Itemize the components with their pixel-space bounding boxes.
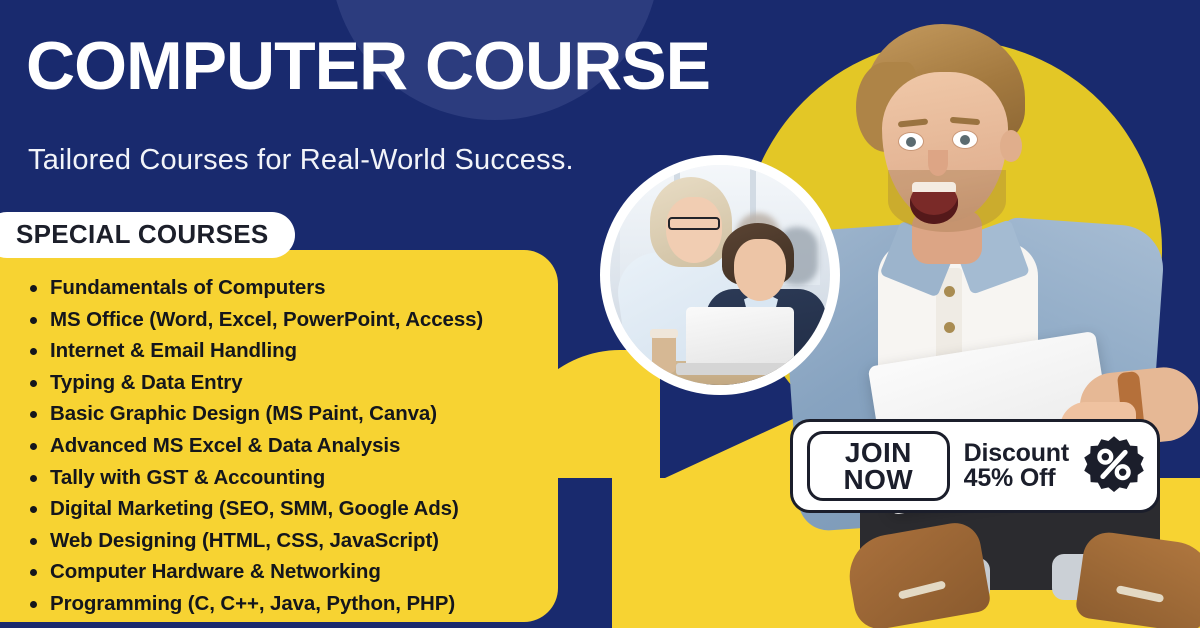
course-list: Fundamentals of ComputersMS Office (Word… [28, 272, 540, 620]
page-title: COMPUTER COURSE [26, 32, 710, 100]
woman-face [666, 197, 722, 263]
course-list-panel: Fundamentals of ComputersMS Office (Word… [0, 250, 558, 622]
shirt-button [944, 322, 955, 333]
man-face [734, 239, 786, 301]
course-list-item: Basic Graphic Design (MS Paint, Canva) [28, 398, 540, 430]
course-list-item: Programming (C, C++, Java, Python, PHP) [28, 588, 540, 620]
promo-banner: COMPUTER COURSE Tailored Courses for Rea… [0, 0, 1200, 628]
join-now-line2: NOW [844, 466, 914, 493]
leather-boot-right [1075, 529, 1200, 628]
special-courses-label: SPECIAL COURSES [16, 219, 269, 249]
course-list-item: Typing & Data Entry [28, 367, 540, 399]
discount-text: Discount 45% Off [964, 441, 1069, 492]
ear [1000, 130, 1022, 162]
shirt-button [944, 286, 955, 297]
course-list-item: Digital Marketing (SEO, SMM, Google Ads) [28, 493, 540, 525]
inset-laptop-screen [686, 307, 794, 369]
percent-starburst-icon [1083, 435, 1145, 497]
course-list-item: Web Designing (HTML, CSS, JavaScript) [28, 525, 540, 557]
join-now-button[interactable]: JOIN NOW [807, 431, 950, 501]
nose [928, 150, 948, 176]
promo-card: JOIN NOW Discount 45% Off [790, 419, 1160, 513]
coffee-cup [652, 333, 676, 373]
page-subtitle: Tailored Courses for Real-World Success. [28, 144, 574, 177]
discount-amount: 45% Off [964, 466, 1069, 492]
course-list-item: MS Office (Word, Excel, PowerPoint, Acce… [28, 304, 540, 336]
teeth [912, 182, 956, 192]
inset-laptop-base [676, 363, 804, 375]
course-list-item: Computer Hardware & Networking [28, 556, 540, 588]
eyeglasses-icon [668, 217, 720, 230]
join-now-line1: JOIN [845, 439, 912, 466]
course-list-item: Fundamentals of Computers [28, 272, 540, 304]
pupil-left [906, 137, 916, 147]
circular-inset-photo [600, 155, 840, 395]
coffee-cup-lid [650, 329, 678, 338]
course-list-item: Advanced MS Excel & Data Analysis [28, 430, 540, 462]
inset-photo-content [610, 165, 830, 385]
pupil-right [960, 135, 970, 145]
discount-label: Discount [964, 441, 1069, 467]
special-courses-badge: SPECIAL COURSES [0, 212, 295, 258]
course-list-item: Tally with GST & Accounting [28, 462, 540, 494]
course-list-item: Internet & Email Handling [28, 335, 540, 367]
